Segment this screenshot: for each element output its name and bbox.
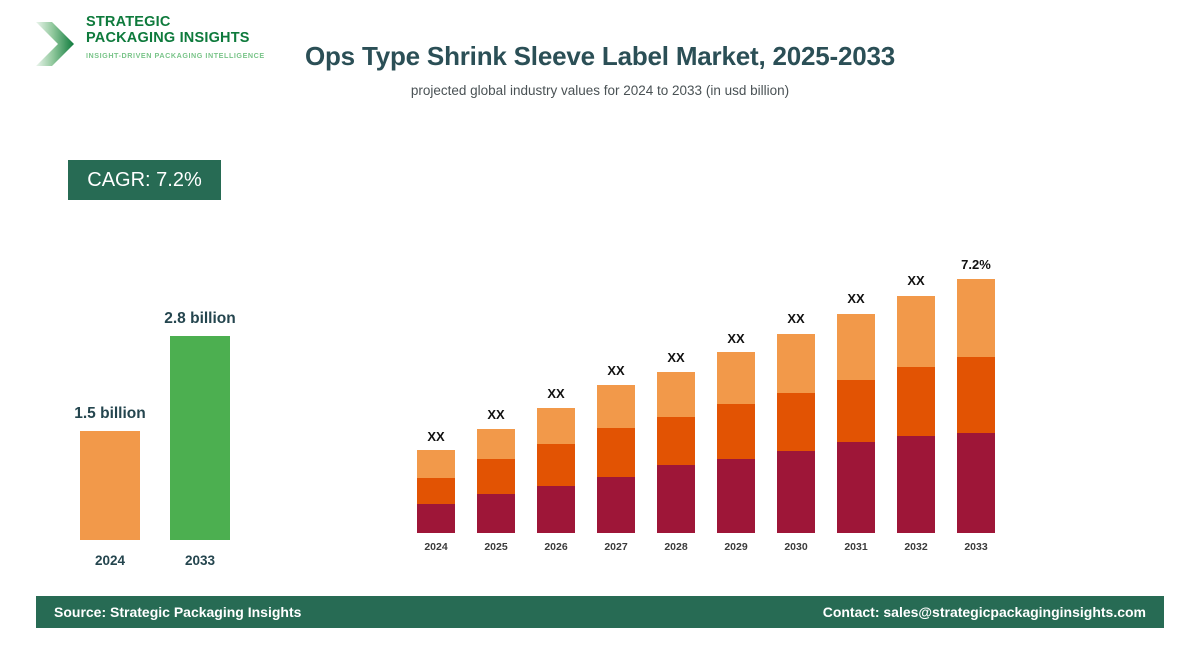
stacked-bar-2026 (537, 408, 575, 533)
bar-segment-segment-3-2030 (777, 334, 815, 393)
chevron-logo-icon (32, 18, 80, 70)
cagr-badge: CAGR: 7.2% (68, 160, 221, 200)
bar-2033 (170, 336, 230, 540)
bar-segment-segment-1-2024 (417, 504, 455, 533)
bar-segment-segment-2-2026 (537, 444, 575, 486)
brand-wordmark: STRATEGIC PACKAGING INSIGHTS INSIGHT-DRI… (86, 14, 282, 60)
bar-value-label-2033: 2.8 billion (120, 310, 280, 328)
bar-segment-segment-3-2024 (417, 450, 455, 478)
endpoint-comparison-chart: 1.5 billion20242.8 billion2033 (40, 300, 290, 570)
x-axis-label-2033: 2033 (957, 541, 995, 553)
footer-source: Source: Strategic Packaging Insights (54, 604, 301, 620)
simple-bar-column: 1.5 billion (80, 431, 140, 540)
stacked-value-label-2025: XX (466, 407, 526, 422)
stacked-value-label-2027: XX (586, 363, 646, 378)
x-axis-label-2028: 2028 (657, 541, 695, 553)
x-axis-label-2025: 2025 (477, 541, 515, 553)
bar-segment-segment-3-2027 (597, 385, 635, 428)
stacked-bar-2029 (717, 353, 755, 533)
x-axis-label-2032: 2032 (897, 541, 935, 553)
footer-bar: Source: Strategic Packaging Insights Con… (36, 596, 1164, 628)
x-axis-label-2031: 2031 (837, 541, 875, 553)
bar-segment-segment-1-2032 (897, 436, 935, 533)
stacked-value-label-2032: XX (886, 273, 946, 288)
infographic-page: STRATEGIC PACKAGING INSIGHTS INSIGHT-DRI… (0, 0, 1200, 650)
stacked-value-label-2029: XX (706, 331, 766, 346)
bar-segment-segment-3-2029 (717, 352, 755, 404)
bar-segment-segment-1-2033 (957, 433, 995, 533)
bar-segment-segment-3-2025 (477, 429, 515, 459)
stacked-bar-2032 (897, 295, 935, 533)
bar-value-label-2024: 1.5 billion (30, 405, 190, 423)
bar-2024 (80, 431, 140, 540)
bar-segment-segment-1-2027 (597, 477, 635, 533)
x-axis-label-2029: 2029 (717, 541, 755, 553)
bar-segment-segment-3-2028 (657, 372, 695, 417)
page-title: Ops Type Shrink Sleeve Label Market, 202… (300, 38, 900, 75)
footer-contact: Contact: sales@strategicpackaginginsight… (823, 604, 1146, 620)
stacked-bar-2025 (477, 429, 515, 533)
stacked-value-label-2030: XX (766, 311, 826, 326)
bar-segment-segment-2-2027 (597, 428, 635, 477)
stacked-value-label-2031: XX (826, 291, 886, 306)
x-axis-label-2033: 2033 (170, 553, 230, 568)
stacked-bar-2024 (417, 451, 455, 533)
x-axis-label-2024: 2024 (417, 541, 455, 553)
stacked-bar-2027 (597, 385, 635, 533)
x-axis-label-2024: 2024 (80, 553, 140, 568)
stacked-value-label-2028: XX (646, 350, 706, 365)
brand-line-2: PACKAGING INSIGHTS (86, 30, 282, 46)
bar-segment-segment-2-2031 (837, 380, 875, 442)
stacked-value-label-2026: XX (526, 386, 586, 401)
stacked-bar-2030 (777, 333, 815, 533)
stacked-bar-2031 (837, 313, 875, 533)
title-block: Ops Type Shrink Sleeve Label Market, 202… (300, 38, 900, 98)
bar-segment-segment-2-2024 (417, 478, 455, 504)
stacked-value-label-2033: 7.2% (946, 257, 1006, 272)
bar-segment-segment-1-2025 (477, 494, 515, 533)
bar-segment-segment-2-2025 (477, 459, 515, 494)
brand-logo: STRATEGIC PACKAGING INSIGHTS INSIGHT-DRI… (32, 14, 282, 76)
bar-segment-segment-2-2032 (897, 367, 935, 436)
stacked-forecast-chart: XX2024XX2025XX2026XX2027XX2028XX2029XX20… (400, 195, 1020, 555)
x-axis-label-2030: 2030 (777, 541, 815, 553)
bar-segment-segment-1-2026 (537, 486, 575, 533)
bar-segment-segment-3-2031 (837, 314, 875, 380)
bar-segment-segment-1-2028 (657, 465, 695, 533)
bar-segment-segment-1-2030 (777, 451, 815, 533)
bar-segment-segment-3-2033 (957, 279, 995, 357)
bar-segment-segment-2-2029 (717, 404, 755, 459)
stacked-bar-2028 (657, 372, 695, 533)
bar-segment-segment-2-2030 (777, 393, 815, 451)
stacked-bar-2033 (957, 279, 995, 533)
stacked-value-label-2024: XX (406, 429, 466, 444)
bar-segment-segment-3-2032 (897, 296, 935, 367)
x-axis-label-2027: 2027 (597, 541, 635, 553)
x-axis-label-2026: 2026 (537, 541, 575, 553)
bar-segment-segment-2-2028 (657, 417, 695, 465)
bar-segment-segment-1-2029 (717, 459, 755, 533)
bar-segment-segment-2-2033 (957, 357, 995, 433)
bar-segment-segment-1-2031 (837, 442, 875, 533)
bar-segment-segment-3-2026 (537, 408, 575, 444)
simple-bar-column: 2.8 billion (170, 336, 230, 540)
brand-tagline: INSIGHT-DRIVEN PACKAGING INTELLIGENCE (86, 51, 282, 60)
page-subtitle: projected global industry values for 202… (300, 83, 900, 98)
brand-line-1: STRATEGIC (86, 14, 282, 30)
